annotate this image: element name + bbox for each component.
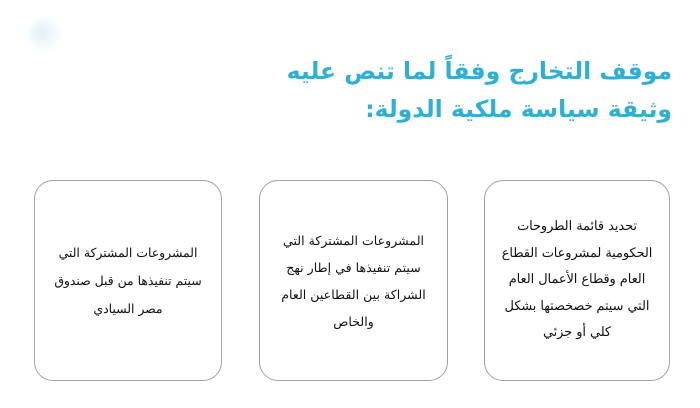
card-sovereign-fund[interactable]: المشروعات المشتركة التي سيتم تنفيذها من … — [34, 180, 222, 381]
card-ppp-projects-text: المشروعات المشتركة التي سيتم تنفيذها في … — [260, 227, 447, 335]
watermark-smudge-icon — [28, 18, 62, 52]
page-title: موقف التخارج وفقاً لما تنص عليه وثيقة سي… — [242, 52, 672, 128]
slide-canvas: موقف التخارج وفقاً لما تنص عليه وثيقة سي… — [0, 0, 700, 408]
card-row: المشروعات المشتركة التي سيتم تنفيذها من … — [0, 180, 700, 382]
card-sovereign-fund-text: المشروعات المشتركة التي سيتم تنفيذها من … — [35, 239, 221, 323]
card-privatization-offerings-text: تحديد قائمة الطروحات الحكومية لمشروعات ا… — [485, 214, 669, 347]
card-ppp-projects[interactable]: المشروعات المشتركة التي سيتم تنفيذها في … — [259, 180, 448, 381]
card-privatization-offerings[interactable]: تحديد قائمة الطروحات الحكومية لمشروعات ا… — [484, 180, 670, 381]
